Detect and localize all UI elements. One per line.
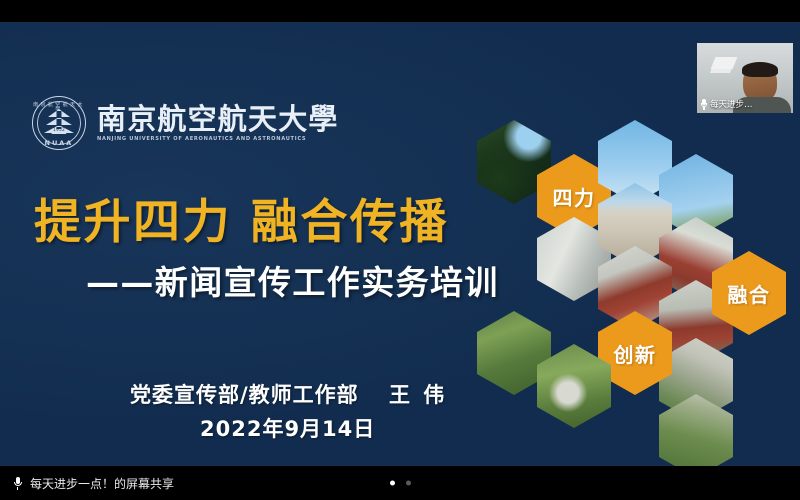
- seal-abbreviation: NUAA: [32, 140, 86, 146]
- hexagon-collage: 四力: [455, 82, 800, 442]
- share-status-label: 每天进步一点！的屏幕共享: [13, 475, 174, 492]
- microphone-icon: [700, 99, 708, 110]
- webcam-thumbnail[interactable]: 每天进步…: [697, 43, 793, 113]
- university-name-cn: 南京航空航天大學: [97, 104, 339, 134]
- ceiling-lamp: [711, 57, 738, 69]
- webcam-participant-name: 每天进步…: [710, 98, 753, 110]
- participant-hair: [742, 62, 778, 77]
- slide-subtitle: ——新闻宣传工作实务培训: [86, 265, 499, 302]
- letterbox-top: [0, 0, 800, 22]
- presenter-name: 王 伟: [389, 383, 447, 407]
- microphone-icon: [13, 477, 23, 490]
- webcam-name-label: 每天进步…: [700, 98, 753, 110]
- seal-founding-year: 1952: [51, 129, 66, 134]
- slide-title: 提升四力 融合传播: [34, 197, 449, 249]
- screen-share-viewport: 南京航空航天大学 1952 NUAA 南京航空航天大學 NANJING UNIV…: [0, 0, 800, 500]
- share-status-text: 每天进步一点！的屏幕共享: [30, 475, 174, 492]
- presenter-department: 党委宣传部/教师工作部: [130, 383, 359, 407]
- university-wordmark: 南京航空航天大學 NANJING UNIVERSITY OF AERONAUTI…: [97, 104, 339, 141]
- university-name-en: NANJING UNIVERSITY OF AERONAUTICS AND AS…: [97, 137, 339, 142]
- presenter-line: 党委宣传部/教师工作部 王 伟: [130, 379, 447, 409]
- seal-pyramid-notch: [57, 119, 62, 126]
- seal-pyramid-notch: [57, 111, 62, 118]
- slide-date: 2022年9月14日: [200, 413, 375, 443]
- presentation-slide[interactable]: 南京航空航天大学 1952 NUAA 南京航空航天大學 NANJING UNIV…: [0, 22, 800, 466]
- page-dot[interactable]: [406, 481, 411, 486]
- page-dot-active[interactable]: [390, 481, 395, 486]
- university-logo: 南京航空航天大学 1952 NUAA 南京航空航天大學 NANJING UNIV…: [32, 96, 339, 150]
- university-seal-icon: 南京航空航天大学 1952 NUAA: [32, 96, 86, 150]
- screen-share-status-bar: 每天进步一点！的屏幕共享: [0, 466, 800, 500]
